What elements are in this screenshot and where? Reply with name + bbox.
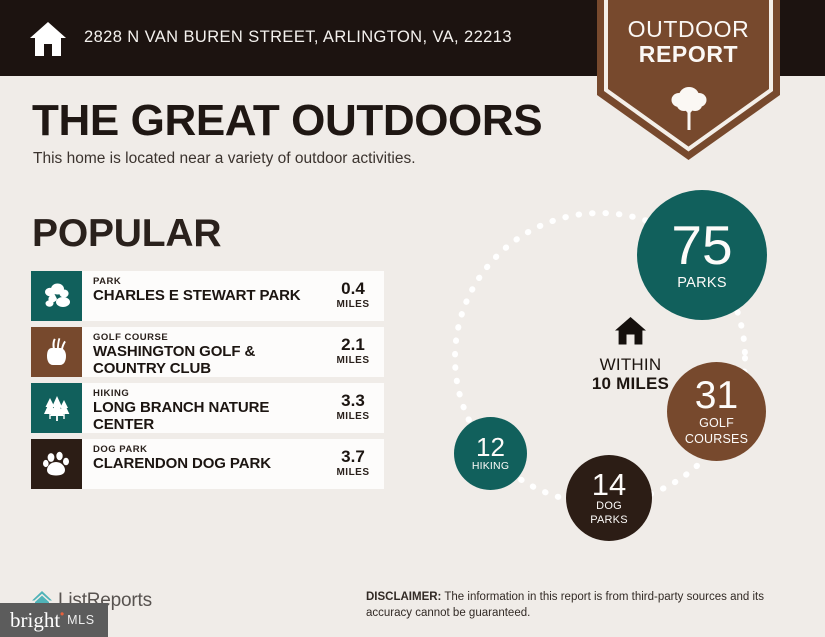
amenities-bubble-chart: 75 PARKS 31 GOLF COURSES 14 DOG PARKS 12… bbox=[432, 176, 825, 556]
bubble-hiking[interactable]: 12 HIKING bbox=[454, 417, 527, 490]
list-item-name: WASHINGTON GOLF & COUNTRY CLUB bbox=[93, 344, 322, 377]
diagram-center: WITHIN 10 MILES bbox=[553, 316, 708, 393]
distance-value: 2.1 bbox=[322, 336, 384, 354]
page-title: THE GREAT OUTDOORS bbox=[32, 96, 542, 146]
list-item-distance: 2.1 MILES bbox=[322, 327, 384, 377]
distance-value: 3.3 bbox=[322, 392, 384, 410]
distance-unit: MILES bbox=[322, 411, 384, 422]
bubble-label-line-1: GOLF bbox=[699, 417, 734, 430]
list-item[interactable]: GOLF COURSE WASHINGTON GOLF & COUNTRY CL… bbox=[31, 327, 384, 377]
distance-value: 3.7 bbox=[322, 448, 384, 466]
home-icon bbox=[28, 20, 68, 58]
home-icon bbox=[553, 316, 708, 351]
list-item-category: PARK bbox=[93, 277, 322, 287]
golf-bag-icon bbox=[31, 327, 82, 377]
list-item-text: PARK CHARLES E STEWART PARK bbox=[82, 271, 322, 321]
list-item-text: HIKING LONG BRANCH NATURE CENTER bbox=[82, 383, 322, 433]
distance-unit: MILES bbox=[322, 299, 384, 310]
mls-wordmark: bright • bbox=[10, 610, 60, 631]
disclaimer: DISCLAIMER: The information in this repo… bbox=[366, 590, 796, 621]
popular-heading: POPULAR bbox=[32, 212, 221, 256]
mls-name: bright bbox=[10, 608, 60, 632]
distance-unit: MILES bbox=[322, 355, 384, 366]
list-item-category: GOLF COURSE bbox=[93, 333, 322, 343]
pine-trees-icon bbox=[31, 383, 82, 433]
trademark-icon: • bbox=[60, 608, 64, 620]
bright-mls-badge: bright • MLS bbox=[0, 603, 108, 637]
popular-list: PARK CHARLES E STEWART PARK 0.4 MILES GO… bbox=[31, 271, 384, 495]
list-item-distance: 3.7 MILES bbox=[322, 439, 384, 489]
list-item-text: DOG PARK CLARENDON DOG PARK bbox=[82, 439, 322, 489]
bubble-label: PARKS bbox=[677, 276, 727, 291]
bubble-label-line-1: DOG bbox=[596, 501, 622, 513]
list-item-name: CLARENDON DOG PARK bbox=[93, 456, 322, 473]
paw-print-icon bbox=[31, 439, 82, 489]
center-line-1: WITHIN bbox=[553, 356, 708, 374]
list-item[interactable]: DOG PARK CLARENDON DOG PARK 3.7 MILES bbox=[31, 439, 384, 489]
bubble-value: 14 bbox=[592, 470, 626, 499]
bubble-label-line-2: COURSES bbox=[685, 433, 748, 446]
list-item[interactable]: PARK CHARLES E STEWART PARK 0.4 MILES bbox=[31, 271, 384, 321]
property-address: 2828 N VAN BUREN STREET, ARLINGTON, VA, … bbox=[84, 28, 512, 47]
distance-value: 0.4 bbox=[322, 280, 384, 298]
disclaimer-label: DISCLAIMER: bbox=[366, 591, 441, 603]
page-subtitle: This home is located near a variety of o… bbox=[33, 150, 416, 168]
park-icon bbox=[31, 271, 82, 321]
center-line-2: 10 MILES bbox=[553, 374, 708, 393]
list-item-distance: 3.3 MILES bbox=[322, 383, 384, 433]
list-item-name: LONG BRANCH NATURE CENTER bbox=[93, 400, 322, 433]
outdoor-report-badge: OUTDOOR REPORT bbox=[597, 0, 780, 160]
list-item-name: CHARLES E STEWART PARK bbox=[93, 288, 322, 305]
bubble-value: 75 bbox=[671, 219, 732, 271]
distance-unit: MILES bbox=[322, 467, 384, 478]
bubble-label: HIKING bbox=[472, 461, 509, 472]
list-item[interactable]: HIKING LONG BRANCH NATURE CENTER 3.3 MIL… bbox=[31, 383, 384, 433]
bubble-dog-parks[interactable]: 14 DOG PARKS bbox=[566, 455, 652, 541]
bubble-label-line-2: PARKS bbox=[590, 515, 627, 527]
list-item-text: GOLF COURSE WASHINGTON GOLF & COUNTRY CL… bbox=[82, 327, 322, 377]
bubble-parks[interactable]: 75 PARKS bbox=[637, 190, 767, 320]
list-item-category: HIKING bbox=[93, 389, 322, 399]
mls-suffix: MLS bbox=[67, 613, 95, 627]
tree-icon bbox=[671, 84, 707, 132]
list-item-distance: 0.4 MILES bbox=[322, 271, 384, 321]
bubble-value: 12 bbox=[476, 435, 505, 460]
list-item-category: DOG PARK bbox=[93, 445, 322, 455]
